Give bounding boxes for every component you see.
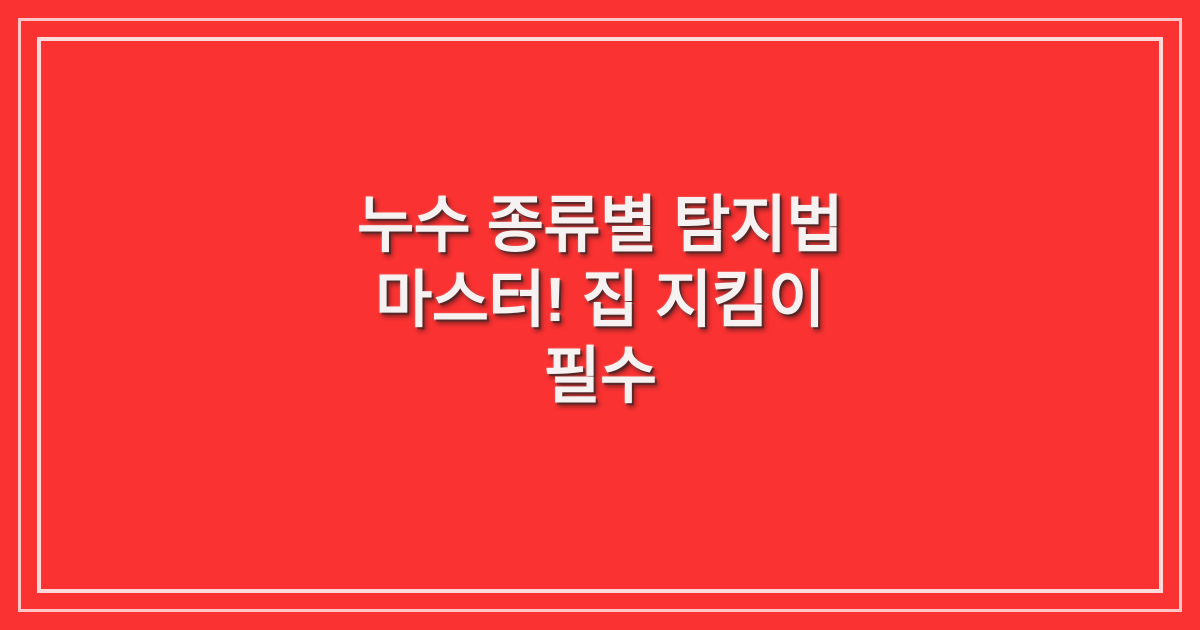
title-line-1: 누수 종류별 탐지법 <box>110 188 1090 264</box>
title-line-2: 마스터! 집 지킴이 <box>110 263 1090 339</box>
title-line-3: 필수 <box>110 339 1090 415</box>
page-title: 누수 종류별 탐지법 마스터! 집 지킴이 필수 <box>110 188 1090 415</box>
thumbnail-card: 누수 종류별 탐지법 마스터! 집 지킴이 필수 <box>0 0 1200 630</box>
title-area: 누수 종류별 탐지법 마스터! 집 지킴이 필수 <box>0 0 1200 630</box>
